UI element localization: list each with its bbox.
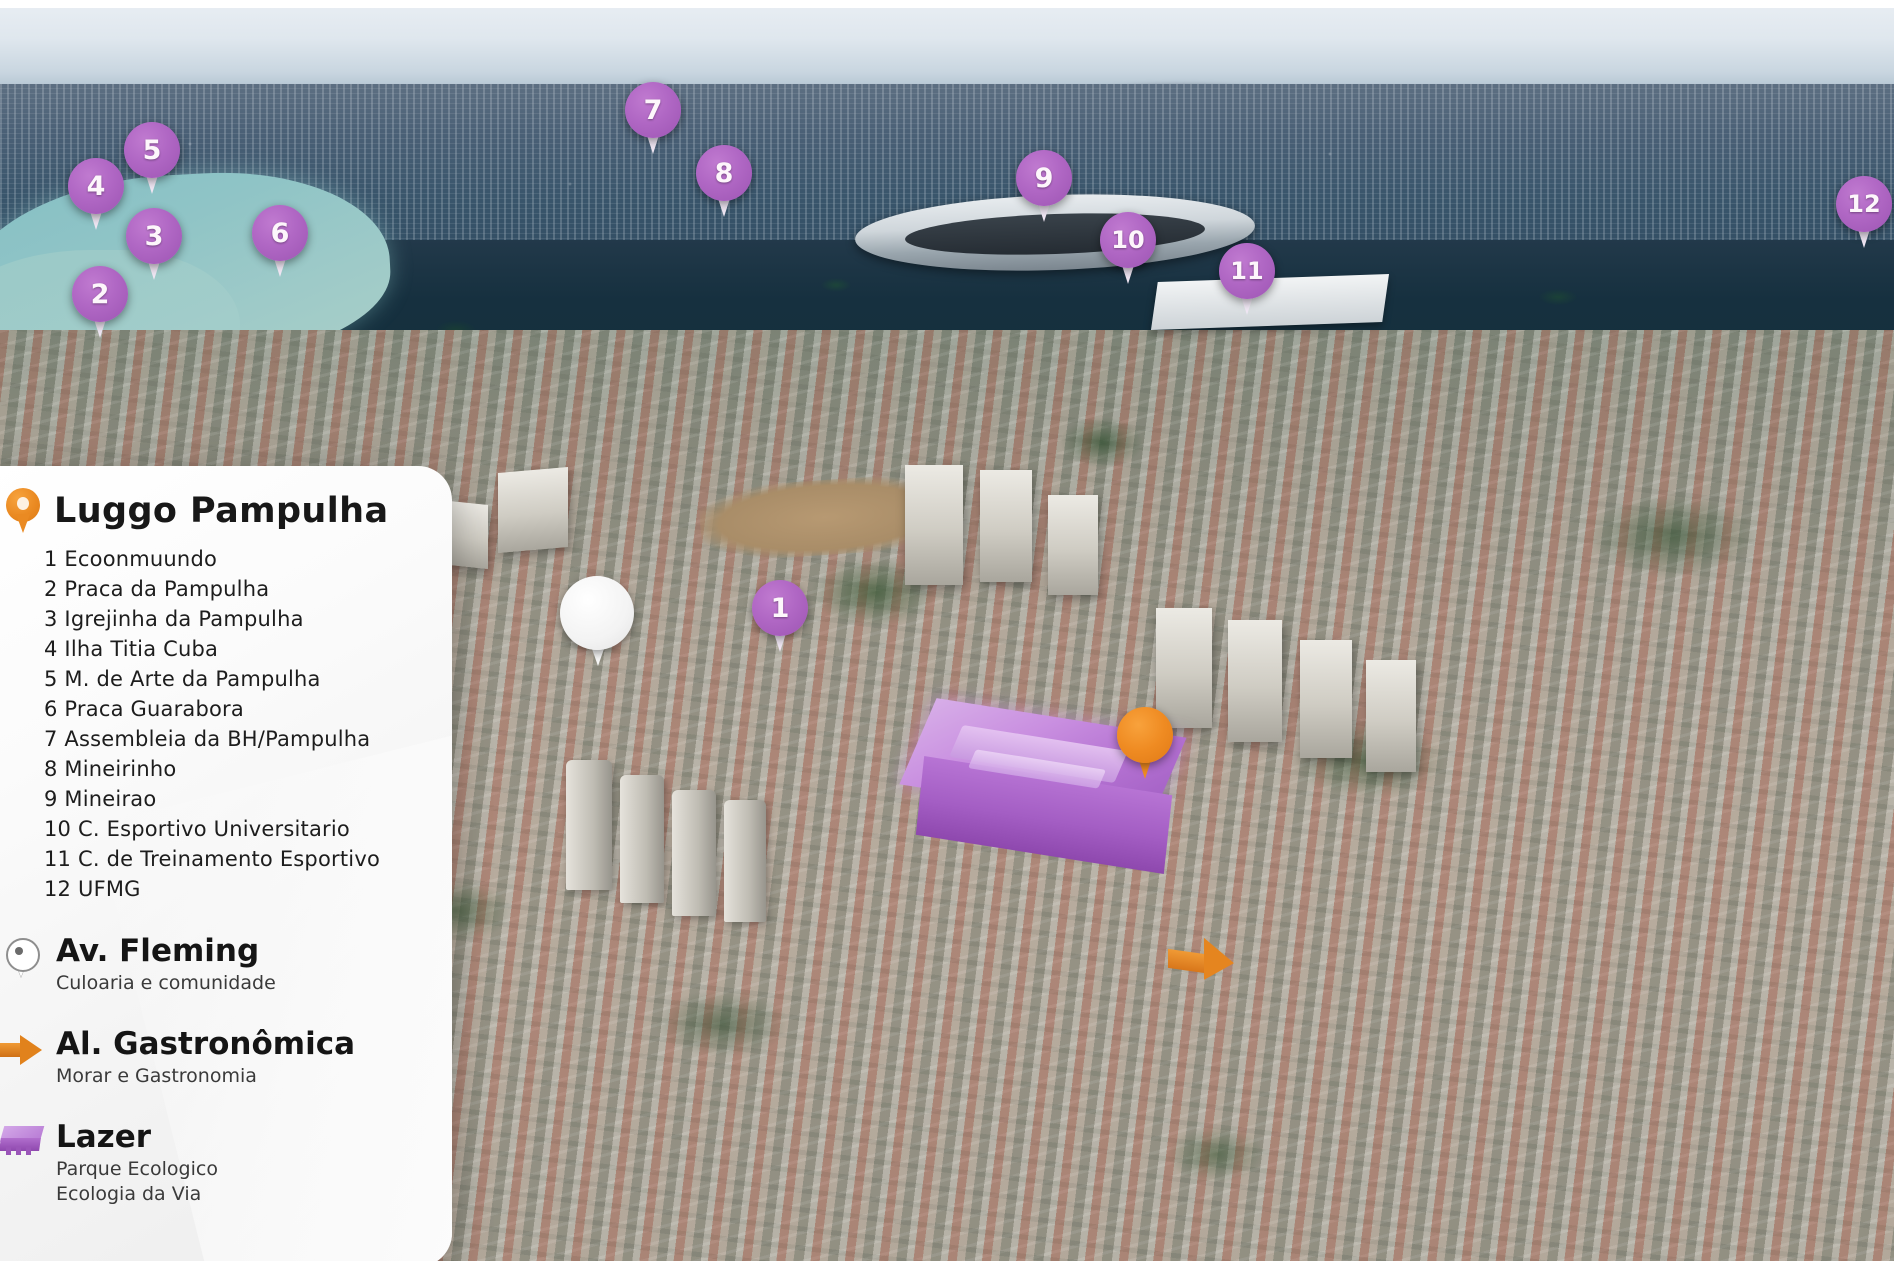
list-item[interactable]: 4 Ilha Titia Cuba (44, 634, 452, 664)
pin-label: 11 (1219, 243, 1275, 299)
list-item[interactable]: 7 Assembleia da BH/Pampulha (44, 724, 452, 754)
map-pin-white[interactable] (560, 576, 634, 664)
map-pin-1[interactable]: 1 (752, 580, 808, 652)
pin-label: 10 (1100, 212, 1156, 268)
map-pin-11[interactable]: 11 (1219, 243, 1275, 315)
map-pin-7[interactable]: 7 (625, 82, 681, 154)
map-pin-12[interactable]: 12 (1836, 176, 1892, 248)
building-block (1048, 495, 1098, 595)
silo-tower (672, 790, 716, 916)
legend-panel: Luggo Pampulha 1 Ecoonmuundo 2 Praca da … (0, 466, 452, 1267)
map-pin-2[interactable]: 2 (72, 266, 128, 338)
section-title: Av. Fleming (56, 934, 276, 968)
list-item[interactable]: 6 Praca Guarabora (44, 694, 452, 724)
outline-map-pin-icon (4, 938, 42, 980)
map-pin-3[interactable]: 3 (126, 208, 182, 280)
building-block (1366, 660, 1416, 772)
pin-label: 7 (625, 82, 681, 138)
section-subtitle: Morar e Gastronomia (56, 1064, 355, 1090)
orange-map-pin-icon (6, 488, 40, 534)
map-pin-10[interactable]: 10 (1100, 212, 1156, 284)
map-pin-8[interactable]: 8 (696, 145, 752, 217)
map-pin-5[interactable]: 5 (124, 122, 180, 194)
map-screenshot: 4 5 3 2 6 7 8 9 10 11 12 (0, 0, 1900, 1267)
purple-block-icon (4, 1124, 42, 1166)
pin-label: 2 (72, 266, 128, 322)
building-block (1300, 640, 1352, 758)
pin-label: 1 (752, 580, 808, 636)
map-pin-6[interactable]: 6 (252, 205, 308, 277)
orange-arrow-icon (4, 1031, 42, 1073)
list-item[interactable]: 9 Mineirao (44, 784, 452, 814)
silo-tower (566, 760, 612, 890)
pin-label: 5 (124, 122, 180, 178)
frame-bottom (0, 1261, 1900, 1267)
section-subtitle: Parque Ecologico Ecologia da Via (56, 1157, 218, 1208)
pin-label: 3 (126, 208, 182, 264)
pin-label (1117, 707, 1173, 763)
building-block (1228, 620, 1282, 742)
list-item[interactable]: 2 Praca da Pampulha (44, 574, 452, 604)
list-item[interactable]: 1 Ecoonmuundo (44, 544, 452, 574)
orange-arrow-marker[interactable] (1168, 940, 1238, 982)
map-pin-9[interactable]: 9 (1016, 150, 1072, 222)
frame-right (1894, 0, 1900, 1267)
section-subtitle: Culoaria e comunidade (56, 971, 276, 997)
legend-numbered-list: 1 Ecoonmuundo 2 Praca da Pampulha 3 Igre… (44, 544, 452, 904)
frame-top (0, 0, 1900, 8)
list-item[interactable]: 12 UFMG (44, 874, 452, 904)
silo-tower (724, 800, 766, 922)
legend-title: Luggo Pampulha (54, 491, 388, 531)
legend-section-av-fleming[interactable]: Av. Fleming Culoaria e comunidade (4, 934, 452, 997)
building-block (498, 467, 568, 553)
building-block (905, 465, 963, 585)
map-pin-4[interactable]: 4 (68, 158, 124, 230)
list-item[interactable]: 10 C. Esportivo Universitario (44, 814, 452, 844)
map-pin-orange[interactable] (1117, 707, 1173, 779)
arrow-head-icon (1204, 938, 1234, 984)
pin-label: 12 (1836, 176, 1892, 232)
list-item[interactable]: 5 M. de Arte da Pampulha (44, 664, 452, 694)
legend-section-al-gastronomica[interactable]: Al. Gastronômica Morar e Gastronomia (4, 1027, 452, 1090)
legend-header: Luggo Pampulha (6, 488, 452, 534)
pin-label (560, 576, 634, 650)
section-title: Al. Gastronômica (56, 1027, 355, 1061)
pin-label: 4 (68, 158, 124, 214)
building-block (980, 470, 1032, 582)
pin-label: 6 (252, 205, 308, 261)
section-title: Lazer (56, 1120, 218, 1154)
pin-label: 8 (696, 145, 752, 201)
legend-section-lazer[interactable]: Lazer Parque Ecologico Ecologia da Via (4, 1120, 452, 1208)
pin-label: 9 (1016, 150, 1072, 206)
list-item[interactable]: 8 Mineirinho (44, 754, 452, 784)
list-item[interactable]: 3 Igrejinha da Pampulha (44, 604, 452, 634)
list-item[interactable]: 11 C. de Treinamento Esportivo (44, 844, 452, 874)
silo-tower (620, 775, 664, 903)
